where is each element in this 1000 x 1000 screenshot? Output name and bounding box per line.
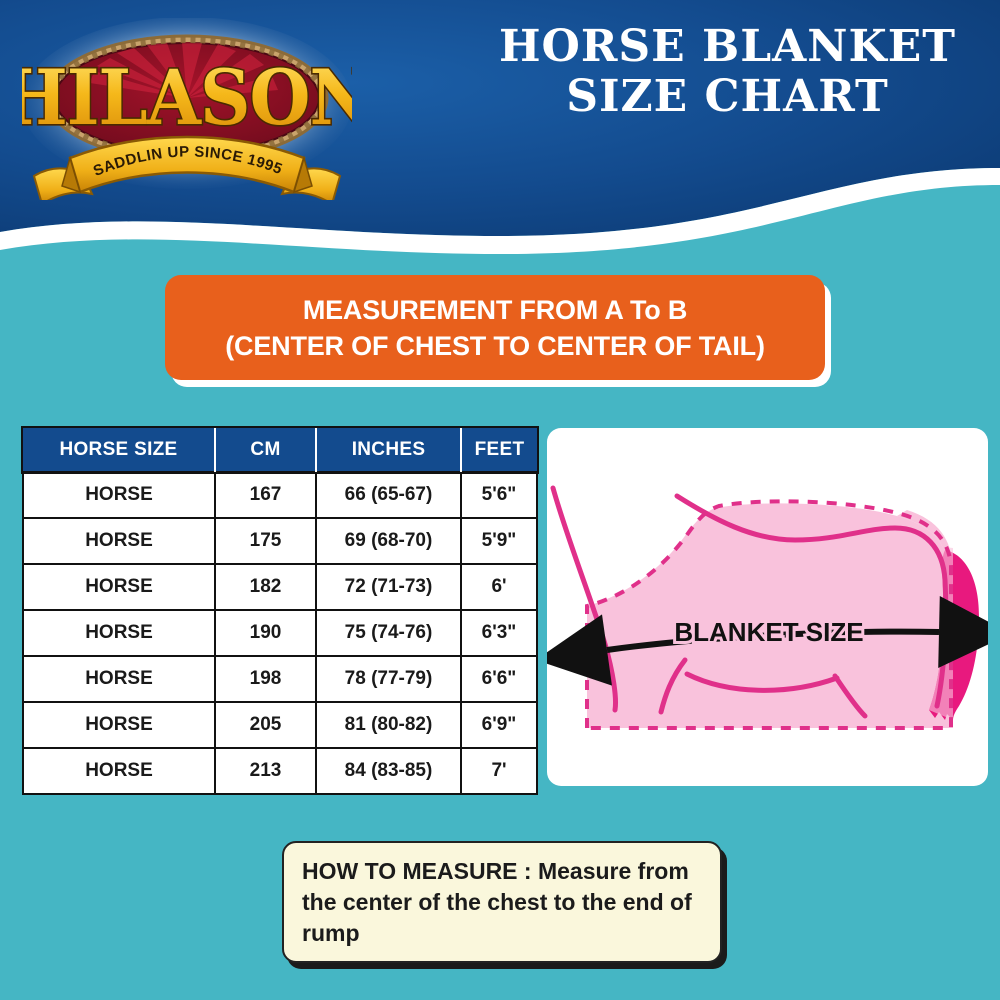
table-row: HORSE 213 84 (83-85) 7' <box>23 748 537 794</box>
horse-blanket-diagram: BLANKET SIZE <box>547 428 988 786</box>
cell-inches: 81 (80-82) <box>316 702 461 748</box>
hilason-logo: HILASON SADDLIN UP SINCE 1995 <box>22 18 352 200</box>
cell-feet: 5'9" <box>461 518 537 564</box>
blanket-size-label: BLANKET SIZE <box>674 617 863 647</box>
table-row: HORSE 175 69 (68-70) 5'9" <box>23 518 537 564</box>
cell-cm: 182 <box>215 564 316 610</box>
cell-cm: 190 <box>215 610 316 656</box>
cell-cm: 175 <box>215 518 316 564</box>
howto-text: HOW TO MEASURE : Measure from the center… <box>302 856 702 949</box>
cell-horse-size: HORSE <box>23 748 215 794</box>
cell-horse-size: HORSE <box>23 656 215 702</box>
cell-inches: 75 (74-76) <box>316 610 461 656</box>
svg-text:HILASON: HILASON <box>22 54 352 142</box>
cell-cm: 198 <box>215 656 316 702</box>
table-row: HORSE 190 75 (74-76) 6'3" <box>23 610 537 656</box>
cell-feet: 6'9" <box>461 702 537 748</box>
horse-diagram-panel: BLANKET SIZE <box>547 428 988 786</box>
column-header-inches: INCHES <box>316 428 461 472</box>
cell-cm: 167 <box>215 472 316 518</box>
cell-horse-size: HORSE <box>23 610 215 656</box>
column-header-feet: FEET <box>461 428 537 472</box>
measurement-banner: MEASUREMENT FROM A To B (CENTER OF CHEST… <box>165 275 825 380</box>
cell-inches: 72 (71-73) <box>316 564 461 610</box>
page-header: HILASON SADDLIN UP SINCE 1995 HORSE BLAN… <box>0 0 1000 285</box>
size-chart-table: HORSE SIZE CM INCHES FEET HORSE 167 66 (… <box>22 428 538 795</box>
column-header-horse-size: HORSE SIZE <box>23 428 215 472</box>
cell-horse-size: HORSE <box>23 518 215 564</box>
cell-feet: 6'6" <box>461 656 537 702</box>
title-line-2: SIZE CHART <box>455 72 1000 122</box>
cell-feet: 6'3" <box>461 610 537 656</box>
cell-horse-size: HORSE <box>23 702 215 748</box>
page-title: HORSE BLANKET SIZE CHART <box>455 22 1000 122</box>
table-row: HORSE 182 72 (71-73) 6' <box>23 564 537 610</box>
banner-line-1: MEASUREMENT FROM A To B <box>303 292 687 328</box>
cell-horse-size: HORSE <box>23 564 215 610</box>
cell-cm: 213 <box>215 748 316 794</box>
cell-horse-size: HORSE <box>23 472 215 518</box>
cell-feet: 5'6" <box>461 472 537 518</box>
cell-inches: 78 (77-79) <box>316 656 461 702</box>
cell-feet: 7' <box>461 748 537 794</box>
cell-cm: 205 <box>215 702 316 748</box>
table-row: HORSE 198 78 (77-79) 6'6" <box>23 656 537 702</box>
cell-feet: 6' <box>461 564 537 610</box>
table-row: HORSE 167 66 (65-67) 5'6" <box>23 472 537 518</box>
banner-line-2: (CENTER OF CHEST TO CENTER OF TAIL) <box>225 328 765 364</box>
table-header-row: HORSE SIZE CM INCHES FEET <box>23 428 537 472</box>
cell-inches: 84 (83-85) <box>316 748 461 794</box>
table-row: HORSE 205 81 (80-82) 6'9" <box>23 702 537 748</box>
how-to-measure-box: HOW TO MEASURE : Measure from the center… <box>282 841 722 963</box>
title-line-1: HORSE BLANKET <box>455 22 1000 72</box>
cell-inches: 66 (65-67) <box>316 472 461 518</box>
cell-inches: 69 (68-70) <box>316 518 461 564</box>
column-header-cm: CM <box>215 428 316 472</box>
